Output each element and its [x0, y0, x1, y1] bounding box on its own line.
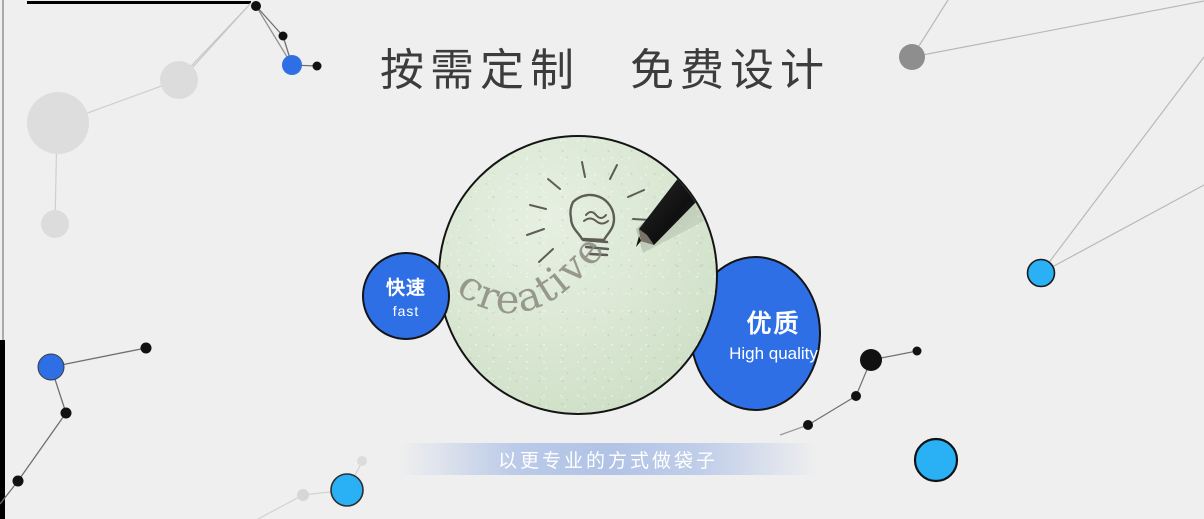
- bubble-label-cn: 优质: [746, 304, 800, 340]
- node-dark-dot: [803, 420, 813, 430]
- feature-bubble-fast[interactable]: 快速 fast: [362, 252, 450, 340]
- left-edge-bar: [0, 340, 5, 519]
- bubble-label-en: High quality: [729, 344, 818, 364]
- node-blue-accent: [38, 354, 64, 380]
- bubble-label-cn: 快速: [386, 273, 426, 300]
- node-cyan-accent: [331, 474, 363, 506]
- svg-text:creative: creative: [449, 226, 614, 323]
- node-dark-dot: [913, 347, 922, 356]
- promo-banner: 按需定制 免费设计: [0, 0, 1204, 519]
- node-pale-dot: [297, 489, 309, 501]
- network-cluster-top-left: [27, 1, 322, 238]
- node-pale-large: [27, 92, 89, 154]
- node-dark-dot: [251, 1, 261, 11]
- node-pale-small: [41, 210, 69, 238]
- node-cyan-accent: [915, 439, 957, 481]
- node-dark-dot: [279, 32, 288, 41]
- network-cluster-right: [899, 0, 1204, 287]
- node-dark-dot: [141, 343, 152, 354]
- photo-illustration: creative: [440, 137, 716, 413]
- network-cluster-bottom-center: [258, 456, 367, 519]
- node-dark-dot: [61, 408, 72, 419]
- node-dark-dot: [851, 391, 861, 401]
- node-dark-dot: [13, 476, 24, 487]
- network-cluster-bottom-left: [0, 343, 152, 505]
- bubble-label-en: fast: [393, 303, 420, 319]
- tagline-banner: 以更专业的方式做袋子: [398, 443, 818, 475]
- top-edge-bar: [27, 1, 251, 4]
- node-pale-dot: [357, 456, 367, 466]
- creative-photo-circle: creative: [438, 135, 718, 415]
- node-cyan-accent: [1028, 260, 1055, 287]
- tagline-text: 以更专业的方式做袋子: [498, 446, 718, 473]
- page-title: 按需定制 免费设计: [0, 46, 1204, 97]
- node-dark-large: [860, 349, 882, 371]
